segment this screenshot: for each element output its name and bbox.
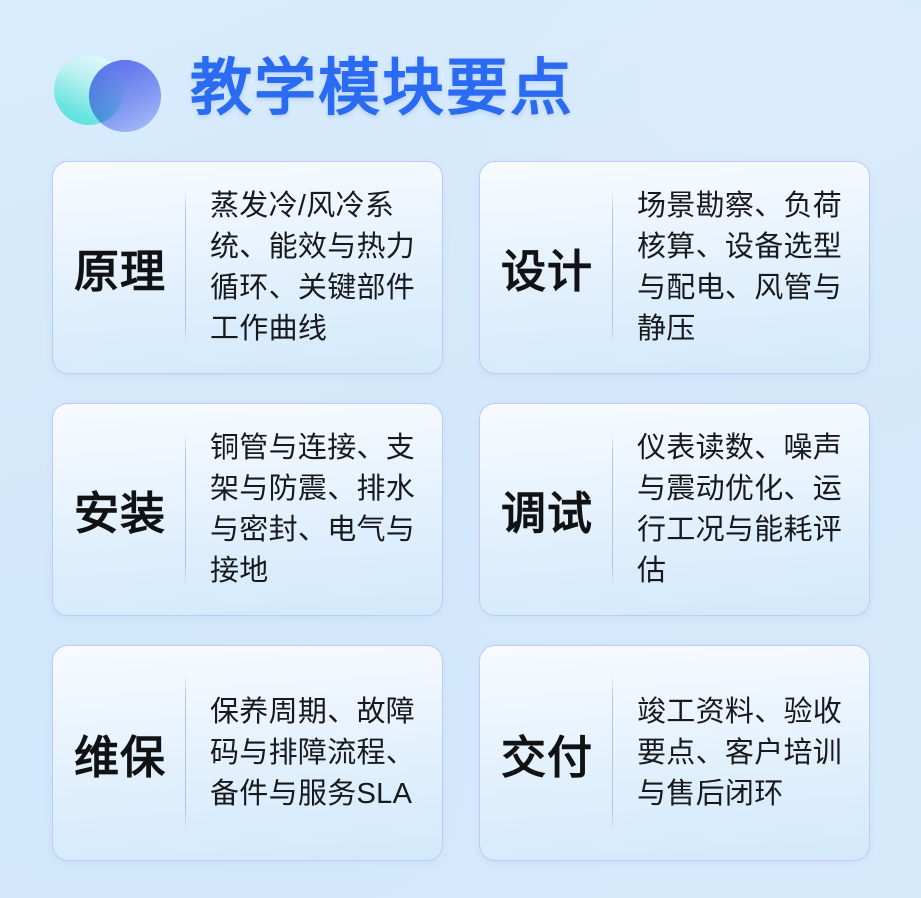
- module-label: 安装: [53, 477, 185, 542]
- module-label: 调试: [480, 477, 612, 542]
- infographic-page: 教学模块要点 原理 蒸发冷/风冷系统、能效与热力循环、关键部件工作曲线 设计 场…: [0, 0, 921, 898]
- module-card-commissioning[interactable]: 调试 仪表读数、噪声与震动优化、运行工况与能耗评估: [479, 403, 870, 616]
- module-grid: 原理 蒸发冷/风冷系统、能效与热力循环、关键部件工作曲线 设计 场景勘察、负荷核…: [52, 161, 870, 861]
- module-label: 原理: [53, 235, 185, 300]
- module-content: 仪表读数、噪声与震动优化、运行工况与能耗评估: [613, 428, 869, 592]
- module-card-principle[interactable]: 原理 蒸发冷/风冷系统、能效与热力循环、关键部件工作曲线: [52, 161, 443, 374]
- overlapping-circles-logo-icon: [52, 47, 164, 131]
- module-label: 交付: [480, 721, 612, 786]
- module-label: 维保: [53, 721, 185, 786]
- module-content: 场景勘察、负荷核算、设备选型与配电、风管与静压: [613, 186, 869, 350]
- module-content: 铜管与连接、支架与防震、排水与密封、电气与接地: [186, 428, 442, 592]
- page-title: 教学模块要点: [190, 58, 574, 120]
- module-content: 保养周期、故障码与排障流程、备件与服务SLA: [186, 692, 442, 815]
- module-content: 竣工资料、验收要点、客户培训与售后闭环: [613, 692, 869, 815]
- logo-circle-purple-icon: [89, 60, 161, 132]
- module-card-installation[interactable]: 安装 铜管与连接、支架与防震、排水与密封、电气与接地: [52, 403, 443, 616]
- module-card-maintenance[interactable]: 维保 保养周期、故障码与排障流程、备件与服务SLA: [52, 645, 443, 861]
- module-card-design[interactable]: 设计 场景勘察、负荷核算、设备选型与配电、风管与静压: [479, 161, 870, 374]
- module-label: 设计: [480, 235, 612, 300]
- module-card-delivery[interactable]: 交付 竣工资料、验收要点、客户培训与售后闭环: [479, 645, 870, 861]
- module-content: 蒸发冷/风冷系统、能效与热力循环、关键部件工作曲线: [186, 186, 442, 350]
- page-header: 教学模块要点: [52, 34, 574, 144]
